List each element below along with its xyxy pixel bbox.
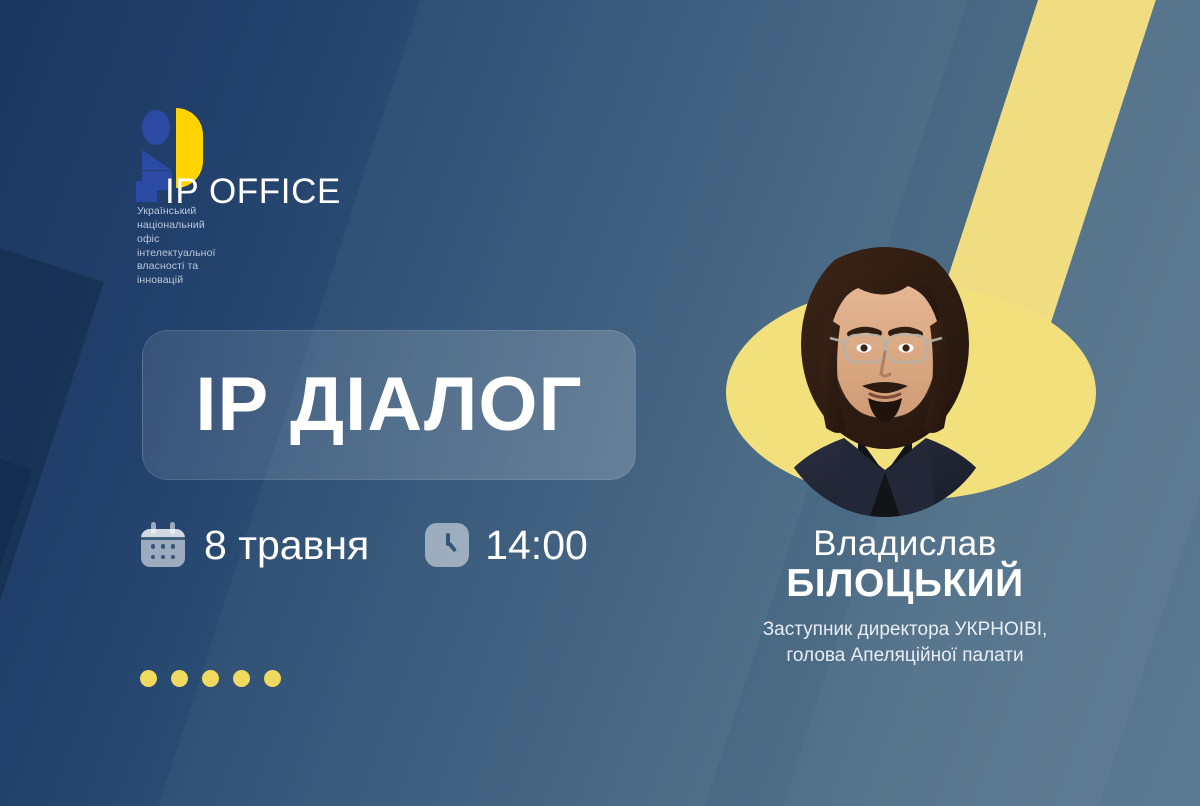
dot bbox=[202, 670, 219, 687]
brand-wordmark: IP OFFICE bbox=[136, 174, 341, 209]
event-announcement-poster: IP OFFICE Український національний офіс … bbox=[0, 0, 1200, 806]
clock-icon bbox=[425, 523, 469, 567]
wordmark-square-icon bbox=[136, 181, 157, 202]
speaker-portrait-wrap bbox=[690, 240, 1120, 520]
diagonal-dark-band-secondary bbox=[0, 420, 32, 806]
speaker-last-name: БІЛОЦЬКИЙ bbox=[690, 563, 1120, 605]
calendar-divider bbox=[141, 537, 185, 540]
speaker-photo bbox=[740, 222, 1030, 522]
dot bbox=[264, 670, 281, 687]
event-time-item: 14:00 bbox=[425, 523, 588, 567]
event-title-plate: IP ДІАЛОГ bbox=[142, 330, 636, 480]
event-date-item: 8 травня bbox=[140, 522, 369, 568]
dot bbox=[233, 670, 250, 687]
dot bbox=[171, 670, 188, 687]
brand-subtitle: Український національний офіс інтелектуа… bbox=[137, 205, 216, 288]
speaker-block: Владислав БІЛОЦЬКИЙ Заступник директора … bbox=[690, 240, 1120, 669]
event-time-text: 14:00 bbox=[485, 525, 588, 566]
event-title: IP ДІАЛОГ bbox=[195, 367, 582, 443]
brand-logo: IP OFFICE Український національний офіс … bbox=[136, 108, 214, 183]
event-meta-row: 8 травня 14:00 bbox=[140, 522, 588, 568]
logo-triangle-shape bbox=[142, 150, 172, 170]
wordmark-text: IP OFFICE bbox=[165, 174, 341, 209]
decorative-dots bbox=[140, 670, 281, 687]
calendar-day-dots bbox=[148, 544, 178, 559]
diagonal-dark-band bbox=[0, 180, 104, 806]
event-date-text: 8 травня bbox=[204, 525, 369, 566]
calendar-icon bbox=[140, 522, 186, 568]
dot bbox=[140, 670, 157, 687]
speaker-role: Заступник директора УКРНОІВІ, голова Апе… bbox=[690, 617, 1120, 669]
speaker-first-name: Владислав bbox=[690, 526, 1120, 563]
logo-ellipse-shape bbox=[142, 110, 170, 145]
